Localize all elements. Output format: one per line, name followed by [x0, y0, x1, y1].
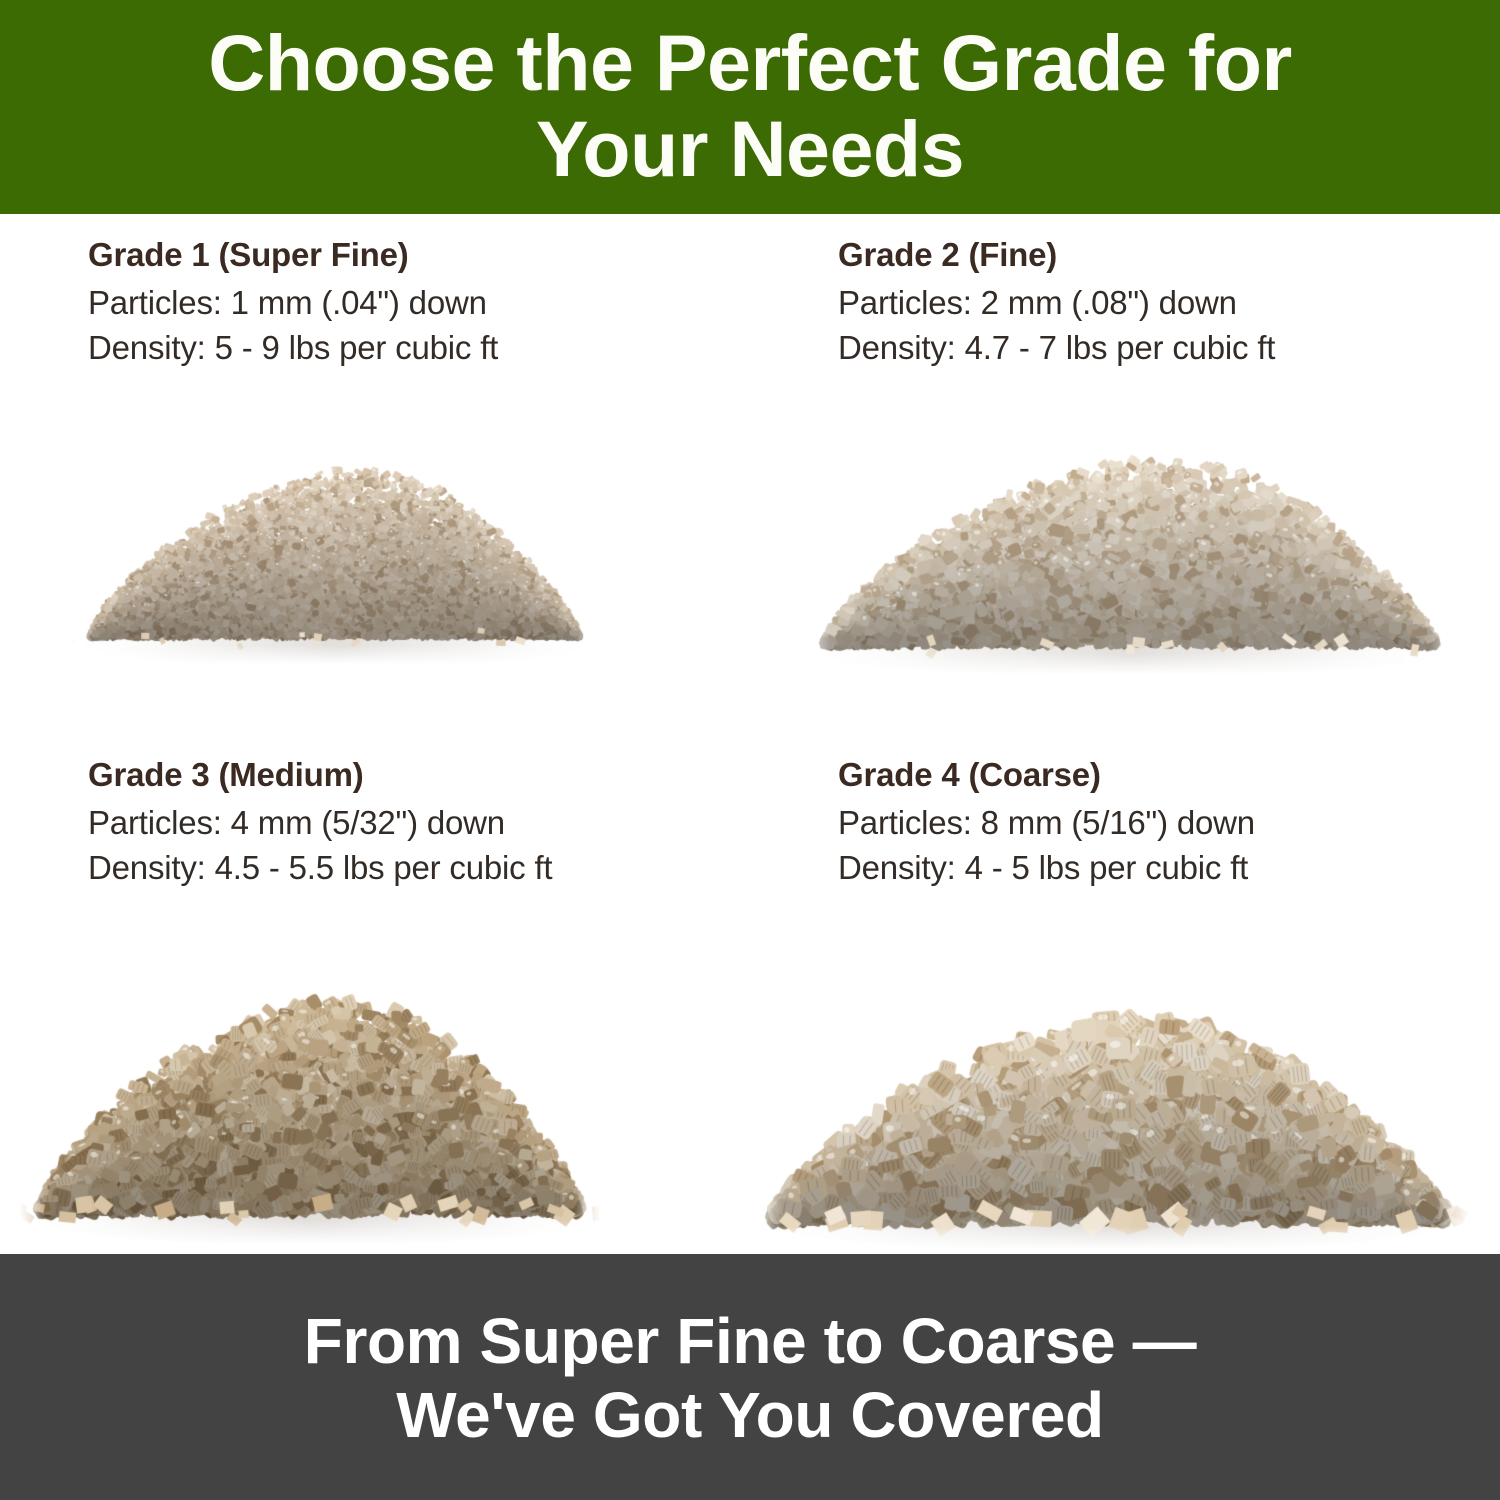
infographic-page: Choose the Perfect Grade for Your Needs … [0, 0, 1500, 1500]
page-title-line-2: Your Needs [536, 104, 964, 193]
page-title: Choose the Perfect Grade for Your Needs [190, 20, 1310, 192]
footer-tagline-line-1: From Super Fine to Coarse — [304, 1305, 1196, 1377]
grade-card-1: Grade 1 (Super Fine) Particles: 1 mm (.0… [0, 214, 750, 734]
grade-4-pile-image [750, 929, 1470, 1249]
grade-2-pile-image [800, 374, 1460, 674]
grade-1-text-block: Grade 1 (Super Fine) Particles: 1 mm (.0… [88, 234, 728, 370]
grade-1-pile-canvas [70, 394, 600, 664]
grade-3-particles: Particles: 4 mm (5/32") down [88, 800, 728, 845]
grade-4-text-block: Grade 4 (Coarse) Particles: 8 mm (5/16")… [838, 754, 1478, 890]
grade-3-title: Grade 3 (Medium) [88, 754, 728, 796]
grade-2-title: Grade 2 (Fine) [838, 234, 1478, 276]
grade-3-text-block: Grade 3 (Medium) Particles: 4 mm (5/32")… [88, 754, 728, 890]
grade-4-pile-canvas [750, 929, 1470, 1249]
header-banner: Choose the Perfect Grade for Your Needs [0, 0, 1500, 214]
grade-1-title: Grade 1 (Super Fine) [88, 234, 728, 276]
footer-tagline-line-2: We've Got You Covered [396, 1379, 1103, 1451]
grade-1-particles: Particles: 1 mm (.04") down [88, 280, 728, 325]
grade-4-density: Density: 4 - 5 lbs per cubic ft [838, 845, 1478, 890]
grade-1-density: Density: 5 - 9 lbs per cubic ft [88, 325, 728, 370]
page-title-line-1: Choose the Perfect Grade for [208, 18, 1291, 107]
grade-grid: Grade 1 (Super Fine) Particles: 1 mm (.0… [0, 214, 1500, 1254]
grade-3-density: Density: 4.5 - 5.5 lbs per cubic ft [88, 845, 728, 890]
grade-3-pile-canvas [20, 904, 600, 1244]
grade-4-particles: Particles: 8 mm (5/16") down [838, 800, 1478, 845]
grade-card-2: Grade 2 (Fine) Particles: 2 mm (.08") do… [750, 214, 1500, 734]
grade-2-density: Density: 4.7 - 7 lbs per cubic ft [838, 325, 1478, 370]
grade-4-title: Grade 4 (Coarse) [838, 754, 1478, 796]
grade-card-3: Grade 3 (Medium) Particles: 4 mm (5/32")… [0, 734, 750, 1254]
grade-2-particles: Particles: 2 mm (.08") down [838, 280, 1478, 325]
grade-3-pile-image [20, 904, 600, 1244]
grade-2-text-block: Grade 2 (Fine) Particles: 2 mm (.08") do… [838, 234, 1478, 370]
grade-card-4: Grade 4 (Coarse) Particles: 8 mm (5/16")… [750, 734, 1500, 1254]
grade-2-pile-canvas [800, 374, 1460, 674]
footer-banner: From Super Fine to Coarse — We've Got Yo… [0, 1254, 1500, 1500]
footer-tagline: From Super Fine to Coarse — We've Got Yo… [150, 1304, 1350, 1452]
grade-1-pile-image [70, 394, 600, 664]
